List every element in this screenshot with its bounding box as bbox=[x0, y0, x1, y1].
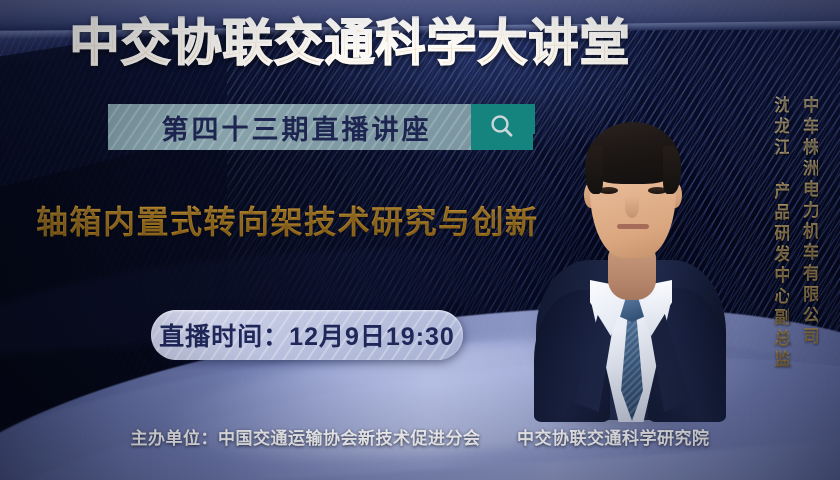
portrait-hair-right bbox=[663, 146, 681, 194]
footer-organizer: 主办单位：中国交通运输协会新技术促进分会 bbox=[131, 429, 481, 448]
broadcast-time-badge: 直播时间：12月9日19:30 bbox=[151, 310, 463, 360]
livestream-poster: 中交协联交通科学大讲堂 第四十三期直播讲座 轴箱内置式转向架技术研究与创新 直播… bbox=[0, 0, 840, 480]
footer: 主办单位：中国交通运输协会新技术促进分会 中交协联交通科学研究院 bbox=[0, 424, 840, 449]
speaker-organization: 中车株洲电力机车有限公司 bbox=[799, 96, 818, 371]
search-icon bbox=[487, 112, 517, 142]
speaker-credits: 沈龙江 产品研发中心副总监 中车株洲电力机车有限公司 bbox=[771, 96, 818, 371]
speaker-name-title: 沈龙江 产品研发中心副总监 bbox=[771, 96, 790, 371]
speaker-portrait bbox=[540, 108, 716, 418]
poster-content: 中交协联交通科学大讲堂 第四十三期直播讲座 轴箱内置式转向架技术研究与创新 直播… bbox=[0, 0, 840, 480]
broadcast-time-label: 直播时间：12月9日19:30 bbox=[159, 317, 455, 353]
portrait-hair-left bbox=[585, 146, 603, 194]
portrait-nose bbox=[625, 196, 639, 218]
page-title: 中交协联交通科学大讲堂 bbox=[0, 18, 700, 68]
portrait-mouth bbox=[617, 224, 649, 229]
subtitle-bar: 第四十三期直播讲座 bbox=[108, 104, 533, 150]
subtitle-label: 第四十三期直播讲座 bbox=[108, 108, 471, 147]
lecture-topic-title: 轴箱内置式转向架技术研究与创新 bbox=[36, 197, 596, 243]
footer-co-organizer: 中交协联交通科学研究院 bbox=[517, 429, 710, 448]
